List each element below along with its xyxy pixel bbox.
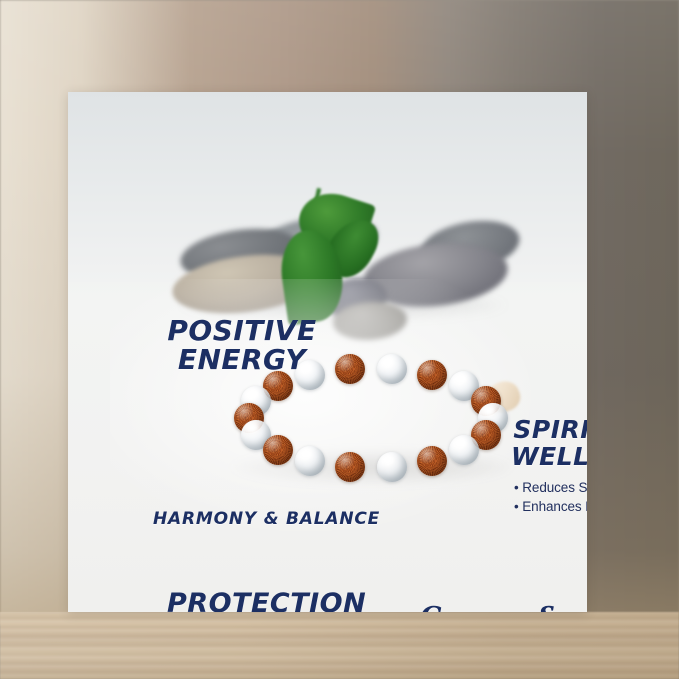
bracelet-image <box>231 360 511 488</box>
benefit-title-harmony-balance: HARMONY & BALANCE <box>153 511 380 528</box>
bracelet-bead-rudraksha <box>335 452 365 482</box>
bracelet-bead-rudraksha <box>263 435 293 465</box>
benefit-bullets-spiritual-wellbeing: Reduces Stress Enhances Intuition <box>514 478 587 516</box>
bracelet-bead-quartz <box>377 354 407 384</box>
benefit-title-spiritual-wellbeing: SPIRITUAL WELLBEING <box>511 417 587 470</box>
benefit-title-clarity-focus: Clarity & Focus <box>420 604 587 612</box>
list-item: Reduces Stress <box>514 478 587 497</box>
list-item: Enhances Intuition <box>514 497 587 516</box>
bracelet-bead-rudraksha <box>335 354 365 384</box>
background-wood-table-sheen <box>0 612 679 679</box>
product-card: POSITIVE ENERGY SPIRITUAL WELLBEING Redu… <box>68 92 587 612</box>
scene: POSITIVE ENERGY SPIRITUAL WELLBEING Redu… <box>0 0 679 679</box>
bracelet-bead-quartz <box>295 360 325 390</box>
bracelet-bead-rudraksha <box>417 360 447 390</box>
benefit-title-protection: PROTECTION <box>167 590 366 612</box>
